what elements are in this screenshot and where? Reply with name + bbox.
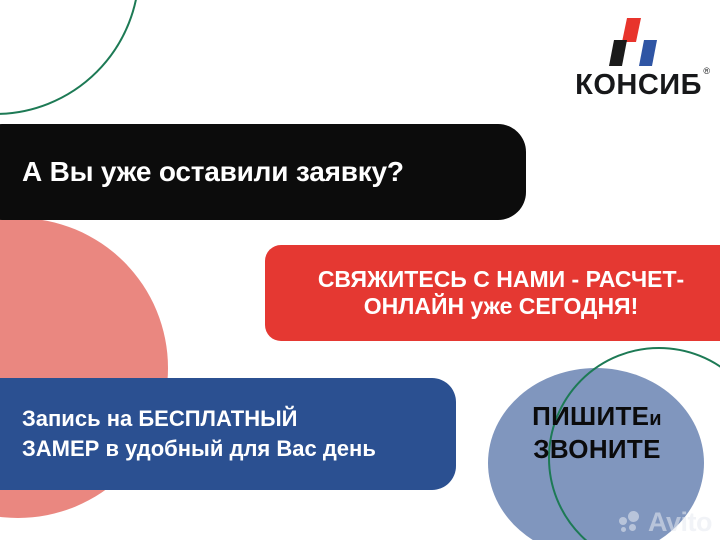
- callout-line2: ЗВОНИТЕ: [533, 434, 660, 464]
- banner-contact-us-text: СВЯЖИТЕСЬ С НАМИ - РАСЧЕТ- ОНЛАЙН уже СЕ…: [318, 266, 684, 320]
- callout-write-and-call: ПИШИТЕи ЗВОНИТЕ: [493, 400, 701, 466]
- callout-line1-conjunction: и: [649, 408, 662, 430]
- banner-red-line2-part2: уже: [471, 293, 513, 319]
- banner-question: А Вы уже оставили заявку?: [0, 124, 526, 220]
- avito-dots-icon: [619, 511, 645, 535]
- banner-red-line1: СВЯЖИТЕСЬ С НАМИ - РАСЧЕТ-: [318, 266, 684, 292]
- brand-logo: КОНСИБ ®: [570, 18, 710, 100]
- banner-blue-line1: Запись на БЕСПЛАТНЫЙ: [22, 406, 297, 431]
- banner-free-measurement: Запись на БЕСПЛАТНЫЙ ЗАМЕР в удобный для…: [0, 378, 456, 490]
- banner-question-text: А Вы уже оставили заявку?: [22, 157, 404, 188]
- banner-red-line2-part3: СЕГОДНЯ!: [512, 293, 638, 319]
- registered-trademark-symbol: ®: [703, 67, 710, 76]
- avito-watermark-text: Avito: [648, 509, 712, 536]
- konsib-logo-mark-icon: [600, 18, 666, 66]
- decorative-circle-outline-top-left: [0, 0, 140, 115]
- avito-watermark: Avito: [619, 509, 712, 536]
- banner-blue-line2: ЗАМЕР в удобный для Вас день: [22, 436, 376, 461]
- poster-canvas: КОНСИБ ® А Вы уже оставили заявку? СВЯЖИ…: [0, 0, 720, 540]
- logo-wordmark: КОНСИБ: [575, 71, 702, 100]
- banner-contact-us: СВЯЖИТЕСЬ С НАМИ - РАСЧЕТ- ОНЛАЙН уже СЕ…: [265, 245, 720, 341]
- banner-red-line2-part1: ОНЛАЙН: [364, 293, 471, 319]
- banner-free-measurement-text: Запись на БЕСПЛАТНЫЙ ЗАМЕР в удобный для…: [22, 404, 376, 463]
- callout-line1-main: ПИШИТЕ: [532, 401, 649, 431]
